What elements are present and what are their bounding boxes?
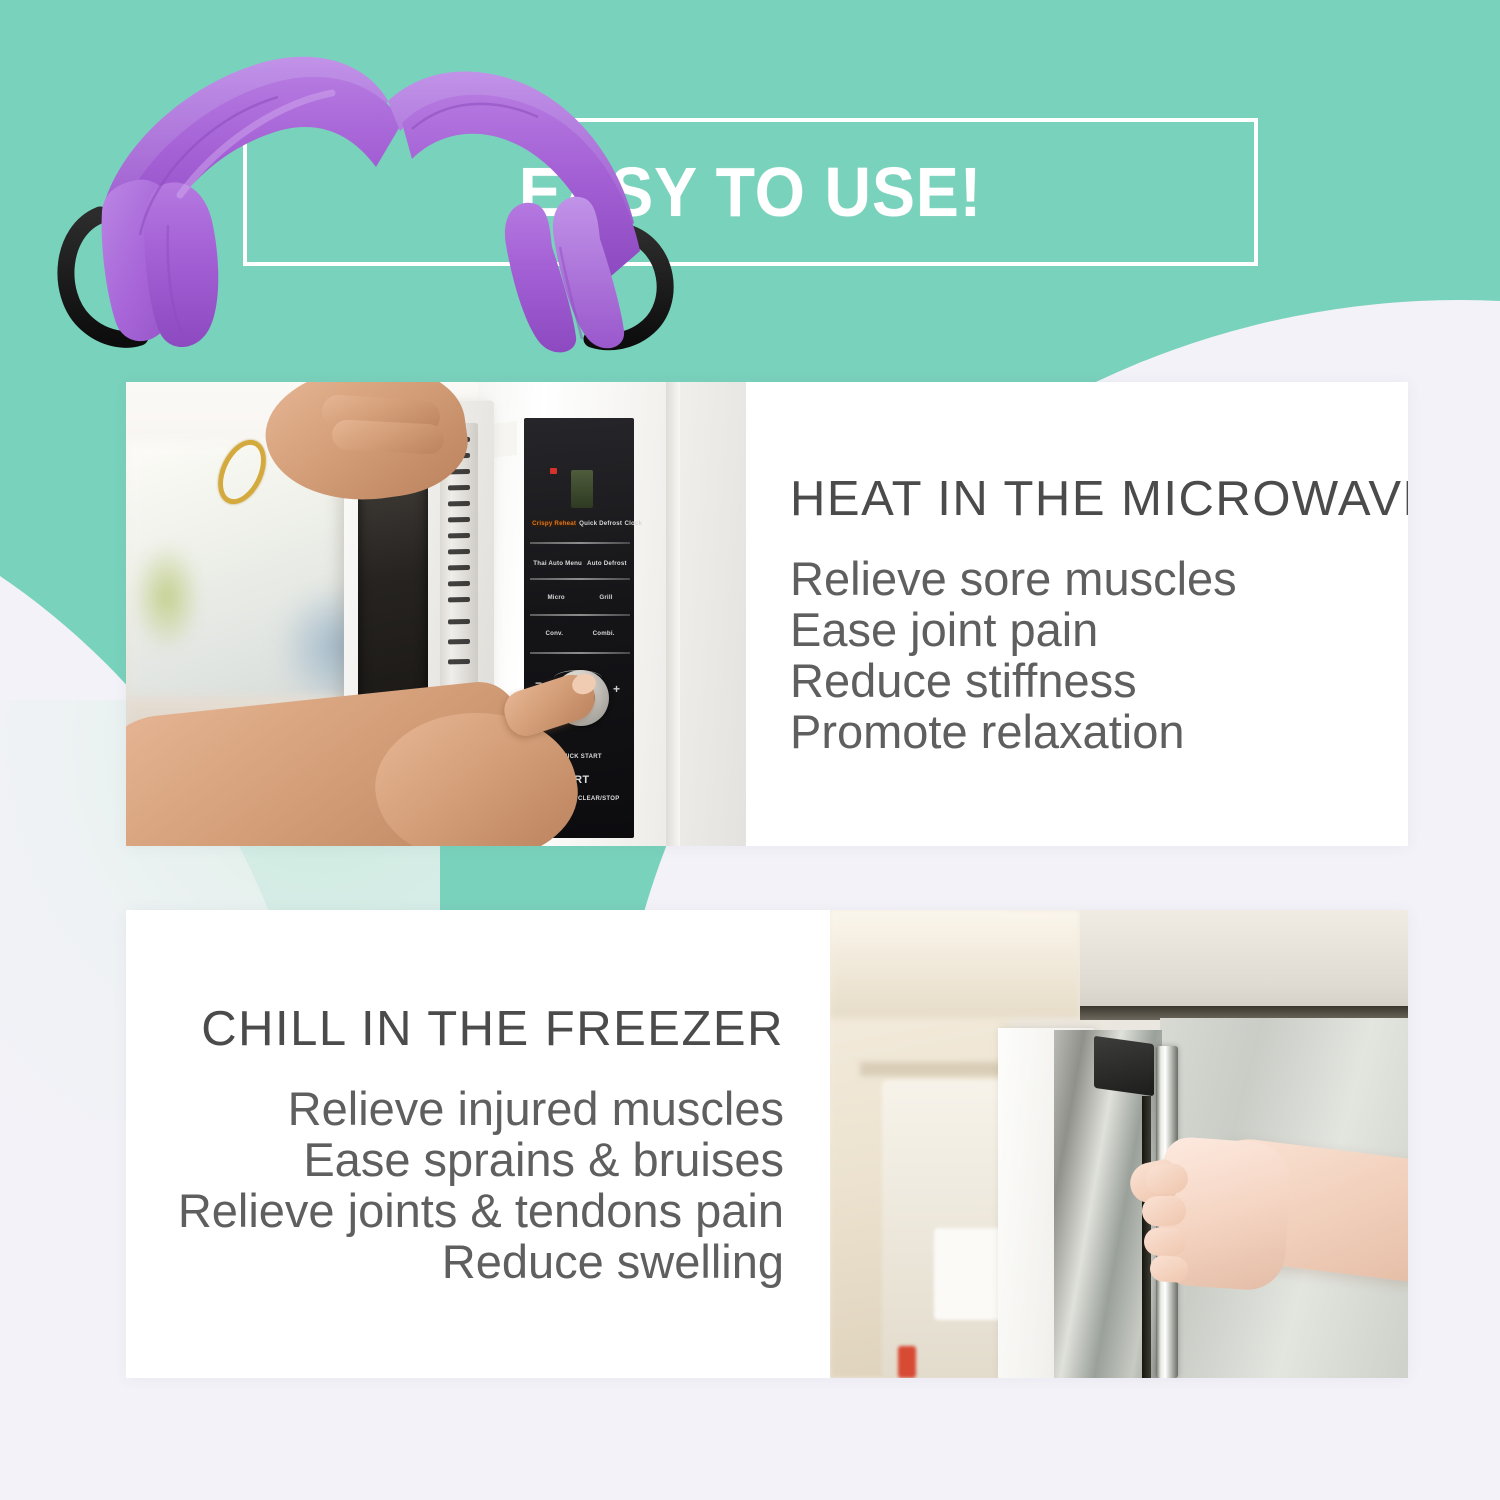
product-image-neck-wrap — [40, 25, 700, 355]
heat-text-block: HEAT IN THE MICROWAVE Relieve sore muscl… — [746, 382, 1408, 846]
panel-indicator-led — [550, 468, 557, 474]
button-combi[interactable]: Combi. — [593, 630, 615, 637]
blurred-shelf — [860, 1062, 1010, 1076]
section-card-heat: Crispy Reheat Quick Defrost Clock Thai A… — [126, 382, 1408, 846]
button-thai-auto-menu[interactable]: Thai Auto Menu — [533, 560, 582, 567]
button-grill[interactable]: Grill — [599, 594, 612, 601]
red-item-in-fridge — [898, 1346, 916, 1378]
panel-divider-2 — [530, 578, 630, 580]
heat-benefit-4: Promote relaxation — [790, 706, 1184, 757]
finger-2 — [1141, 1195, 1186, 1227]
button-micro[interactable]: Micro — [547, 594, 564, 601]
panel-button-row-4[interactable]: Conv. Combi. — [530, 630, 630, 637]
chill-benefit-4: Reduce swelling — [442, 1236, 784, 1287]
section-card-chill: CHILL IN THE FREEZER Relieve injured mus… — [126, 910, 1408, 1378]
panel-button-row-1[interactable]: Crispy Reheat Quick Defrost Clock — [530, 520, 630, 527]
chill-benefit-1: Relieve injured muscles — [288, 1083, 784, 1134]
chill-text-block: CHILL IN THE FREEZER Relieve injured mus… — [126, 910, 830, 1378]
finger-upper-2 — [331, 419, 444, 455]
heat-section-title: HEAT IN THE MICROWAVE — [790, 471, 1408, 527]
hand-opening-freezer-photo — [830, 910, 1408, 1378]
chill-benefit-3: Relieve joints & tendons pain — [178, 1185, 784, 1236]
button-quick-defrost[interactable]: Quick Defrost — [579, 520, 622, 527]
button-crispy-reheat[interactable]: Crispy Reheat — [531, 520, 577, 527]
panel-divider-1 — [530, 542, 630, 544]
finger-4 — [1149, 1255, 1189, 1284]
finger-3 — [1144, 1227, 1187, 1256]
hand-opening-microwave-photo: Crispy Reheat Quick Defrost Clock Thai A… — [126, 382, 746, 846]
chill-benefit-2: Ease sprains & bruises — [303, 1134, 784, 1185]
fridge-door-bin — [934, 1228, 1004, 1320]
dial-plus-label[interactable]: + — [613, 682, 620, 696]
microwave-right-edge — [666, 382, 680, 846]
infographic-canvas: EASY TO USE! — [0, 0, 1500, 1500]
blurred-cabinet — [830, 910, 1080, 1018]
heat-benefit-1: Relieve sore muscles — [790, 553, 1237, 604]
panel-button-row-2[interactable]: Thai Auto Menu Auto Defrost — [530, 560, 630, 567]
handle-mount-bracket — [1094, 1036, 1154, 1096]
button-clock[interactable]: Clock — [624, 520, 642, 527]
button-auto-defrost[interactable]: Auto Defrost — [588, 560, 628, 567]
freezer-compartment-top — [1080, 910, 1408, 1018]
heat-benefit-2: Ease joint pain — [790, 604, 1098, 655]
button-clear-stop[interactable]: CLEAR/STOP — [578, 796, 620, 802]
heat-benefit-3: Reduce stiffness — [790, 655, 1137, 706]
panel-divider-3 — [530, 614, 630, 616]
button-conv[interactable]: Conv. — [545, 630, 563, 637]
blurred-green-bokeh — [132, 542, 202, 652]
chill-section-title: CHILL IN THE FREEZER — [201, 1001, 784, 1057]
panel-display — [571, 470, 593, 508]
neck-wrap-illustration — [40, 25, 700, 355]
panel-divider-4 — [530, 652, 630, 654]
panel-button-row-3[interactable]: Micro Grill — [530, 594, 630, 601]
